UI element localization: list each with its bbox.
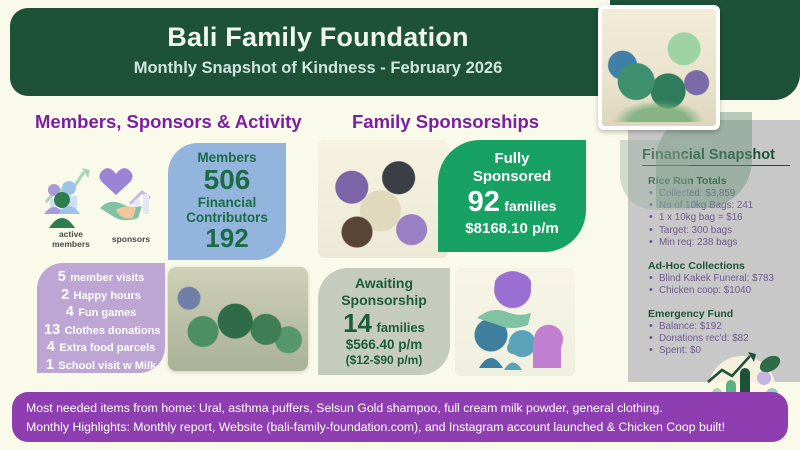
caption-sponsors: sponsors <box>104 235 158 245</box>
header-bar: Bali Family Foundation Monthly Snapshot … <box>10 8 626 96</box>
fully-sponsored-amount: $8168.10 p/m <box>438 219 586 238</box>
emergency-fund-heading: Emergency Fund <box>648 308 800 320</box>
activity-item: 1 School visit w Milk <box>44 357 158 375</box>
section-title-members: Members, Sponsors & Activity <box>35 111 302 133</box>
members-value: 506 <box>168 165 286 195</box>
people-handshake-icon <box>38 150 168 240</box>
activity-label: Happy hours <box>74 290 141 302</box>
ad-hoc-heading: Ad-Hoc Collections <box>648 260 800 272</box>
ad-hoc-item: Blind Kakek Funeral: $783 <box>648 273 800 285</box>
emergency-fund-item: Balance: $192 <box>648 321 800 333</box>
rice-run-item: 1 x 10kg bag = $16 <box>648 212 800 224</box>
banner-line-needed-items: Most needed items from home: Ural, asthm… <box>26 399 774 418</box>
heart-family-illustration <box>455 268 575 376</box>
awaiting-label-1: Awaiting <box>318 275 450 292</box>
awaiting-amount: $566.40 p/m <box>318 337 450 353</box>
activity-label: member visits <box>70 272 144 284</box>
activity-count: 2 <box>61 287 69 303</box>
activity-item: 4 Fun games <box>44 304 158 322</box>
ad-hoc-item: Chicken coop: $1040 <box>648 285 800 297</box>
fully-sponsored-count: 92 <box>468 186 500 218</box>
members-label: Members <box>168 150 286 165</box>
rice-run-item: Target: 300 bags <box>648 225 800 237</box>
section-title-sponsorships: Family Sponsorships <box>352 111 539 133</box>
fully-sponsored-box: Fully Sponsored 92 families $8168.10 p/m <box>438 140 586 252</box>
fully-sponsored-label-1: Fully <box>438 150 586 168</box>
activity-label: Extra food parcels <box>59 342 155 354</box>
activity-item: 4 Extra food parcels <box>44 339 158 357</box>
activity-count: 1 <box>46 357 54 373</box>
activity-item: 2 Happy hours <box>44 287 158 305</box>
ad-hoc-collections-group: Ad-Hoc Collections Blind Kakek Funeral: … <box>648 260 800 297</box>
leaf-decoration-secondary-icon <box>620 140 690 210</box>
members-stat-box: Members 506 Financial Contributors 192 <box>168 143 286 260</box>
page-subtitle: Monthly Snapshot of Kindness - February … <box>10 59 626 78</box>
emergency-fund-item: Donations rec'd: $82 <box>648 333 800 345</box>
school-visit-photo <box>168 267 308 371</box>
activity-count: 4 <box>66 304 74 320</box>
awaiting-label-2: Sponsorship <box>318 292 450 309</box>
activity-item: 5 member visits <box>44 269 158 287</box>
family-sponsorship-photo <box>318 140 448 258</box>
banner-line-highlights: Monthly Highlights: Monthly report, Webs… <box>26 418 774 437</box>
activity-count: 5 <box>58 269 66 285</box>
awaiting-range: ($12-$90 p/m) <box>318 353 450 368</box>
heart-hand-house-icon <box>455 268 575 376</box>
fully-sponsored-label-2: Sponsored <box>438 168 586 186</box>
awaiting-count-row: 14 families <box>318 309 450 337</box>
bottom-banner: Most needed items from home: Ural, asthm… <box>12 392 788 442</box>
contributors-label-1: Financial <box>168 195 286 210</box>
activity-label: Fun games <box>78 307 136 319</box>
rice-run-item: Min req: 238 bags <box>648 237 800 249</box>
page-title: Bali Family Foundation <box>10 22 626 53</box>
activity-item: 13 Clothes donations <box>44 322 158 340</box>
contributors-value: 192 <box>168 225 286 252</box>
activity-label: School visit w Milk <box>58 360 156 372</box>
community-garden-photo <box>602 9 716 126</box>
fully-sponsored-unit: families <box>504 198 556 214</box>
infographic-page: Bali Family Foundation Monthly Snapshot … <box>0 0 800 450</box>
activity-count: 13 <box>44 322 60 338</box>
activity-list-box: 5 member visits 2 Happy hours 4 Fun game… <box>37 263 165 373</box>
activity-label: Clothes donations <box>65 325 161 337</box>
members-sponsors-illustration <box>38 150 168 240</box>
awaiting-unit: families <box>376 320 424 335</box>
awaiting-sponsorship-box: Awaiting Sponsorship 14 families $566.40… <box>318 268 450 375</box>
caption-active-members: active members <box>44 230 98 249</box>
awaiting-count: 14 <box>343 308 372 338</box>
fully-sponsored-count-row: 92 families <box>438 186 586 219</box>
activity-count: 4 <box>47 339 55 355</box>
header-photo-card <box>598 5 720 130</box>
